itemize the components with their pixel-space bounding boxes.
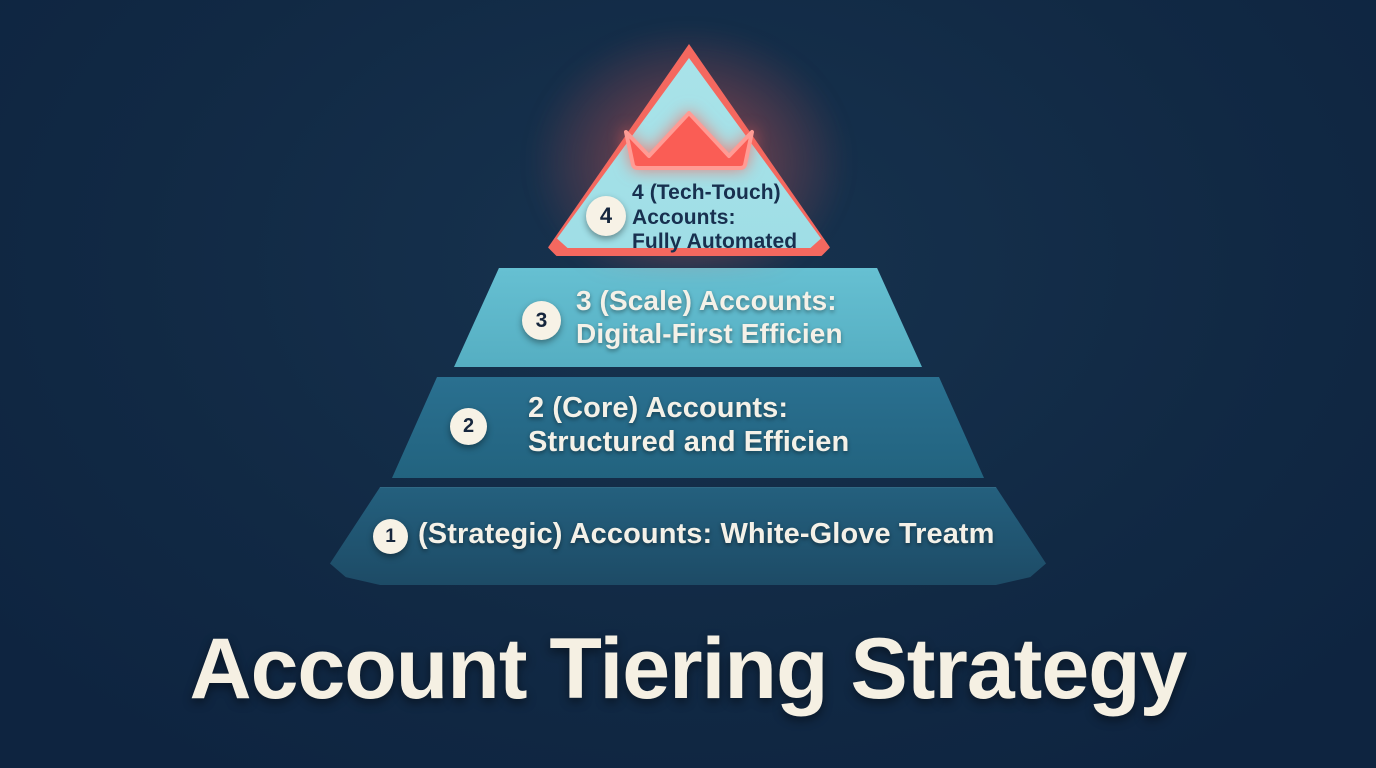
page-title: Account Tiering Strategy bbox=[0, 620, 1376, 719]
tier-4-badge: 4 bbox=[586, 196, 626, 236]
tier-2-badge: 2 bbox=[450, 408, 487, 445]
tier-2-label: 2 (Core) Accounts: Structured and Effici… bbox=[528, 392, 849, 460]
tier-2-label-line-2: Structured and Efficien bbox=[528, 426, 849, 460]
tier-2-label-line-1: 2 (Core) Accounts: bbox=[528, 392, 849, 426]
tier-3-badge: 3 bbox=[522, 301, 561, 340]
slide-canvas: 1 (Strategic) Accounts: White-Glove Trea… bbox=[0, 0, 1376, 768]
tier-3-label: 3 (Scale) Accounts: Digital-First Effici… bbox=[576, 285, 843, 351]
crown-icon bbox=[621, 108, 757, 170]
tier-3-label-line-1: 3 (Scale) Accounts: bbox=[576, 285, 843, 318]
tier-4-label-line-3: Fully Automated bbox=[632, 230, 797, 255]
tier-4-label: 4 (Tech-Touch) Accounts: Fully Automated bbox=[632, 181, 797, 255]
tier-1-label: (Strategic) Accounts: White-Glove Treatm bbox=[418, 518, 995, 552]
tier-4-label-line-2: Accounts: bbox=[632, 206, 797, 231]
tier-4-label-line-1: 4 (Tech-Touch) bbox=[632, 181, 797, 206]
tier-3-label-line-2: Digital-First Efficien bbox=[576, 318, 843, 351]
tier-1-badge: 1 bbox=[373, 519, 408, 554]
pyramid-diagram: 1 (Strategic) Accounts: White-Glove Trea… bbox=[0, 0, 1376, 600]
